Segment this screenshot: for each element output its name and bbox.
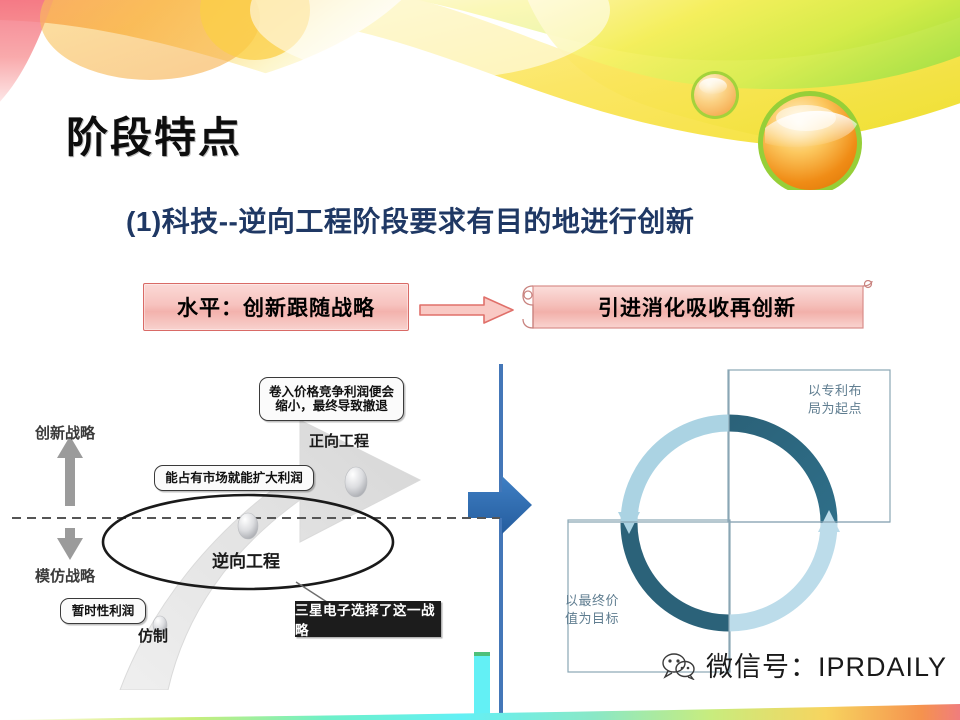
page-subtitle: (1)科技--逆向工程阶段要求有目的地进行创新 bbox=[126, 200, 694, 240]
wechat-icon bbox=[660, 650, 698, 680]
callout-price-competition-line1: 卷入价格竞争利润便会 bbox=[269, 385, 394, 399]
reverse-engineering-diagram: 创新战略 模仿战略 bbox=[0, 360, 500, 690]
watermark-text: 微信号：IPRDAILY bbox=[706, 645, 947, 684]
callout-price-competition: 卷入价格竞争利润便会 缩小，最终导致撤退 bbox=[259, 377, 404, 421]
callout-temporary-profit: 暂时性利润 bbox=[60, 598, 146, 624]
samsung-annotation-box: 三星电子选择了这一战略 bbox=[295, 601, 441, 637]
watermark: 微信号：IPRDAILY bbox=[660, 645, 947, 684]
label-patent-layout-start-line2: 局为起点 bbox=[808, 400, 862, 418]
reverse-engineering-graphic bbox=[0, 360, 500, 690]
label-final-value-goal-line1: 以最终价 bbox=[565, 592, 619, 610]
stage-forward-engineering: 正向工程 bbox=[309, 430, 369, 451]
callout-price-competition-line2: 缩小，最终导致撤退 bbox=[269, 399, 394, 413]
callout-market-share: 能占有市场就能扩大利润 bbox=[154, 465, 314, 491]
innovation-banner-label: 引进消化吸收再创新 bbox=[520, 280, 874, 334]
right-arrow-icon bbox=[418, 295, 516, 325]
axis-label-innovation: 创新战略 bbox=[35, 422, 95, 443]
axis-label-imitation: 模仿战略 bbox=[35, 565, 95, 586]
page-title: 阶段特点 bbox=[66, 104, 242, 165]
innovation-banner: 引进消化吸收再创新 bbox=[520, 280, 874, 334]
label-patent-layout-start: 以专利布 局为起点 bbox=[808, 382, 862, 417]
strategy-level-box: 水平：创新跟随战略 bbox=[143, 283, 409, 331]
stage-imitation: 仿制 bbox=[138, 625, 168, 646]
stage-reverse-engineering: 逆向工程 bbox=[212, 547, 280, 572]
label-final-value-goal: 以最终价 值为目标 bbox=[565, 592, 619, 627]
label-final-value-goal-line2: 值为目标 bbox=[565, 610, 619, 628]
bottom-rainbow-strip bbox=[0, 704, 960, 720]
strategy-level-label: 水平：创新跟随战略 bbox=[177, 292, 375, 322]
label-patent-layout-start-line1: 以专利布 bbox=[808, 382, 862, 400]
